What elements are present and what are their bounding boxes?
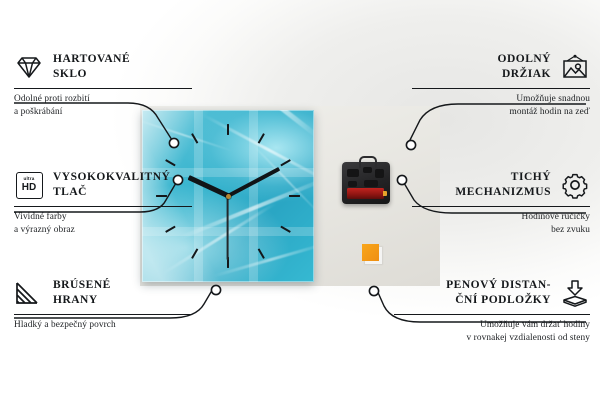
feature-rule <box>394 314 590 315</box>
feature-description: Umožňuje vám držať hodiny v rovnakej vzd… <box>394 319 590 345</box>
connector-dot-left-3 <box>211 285 220 294</box>
feature-description: Umožňuje snadnou montáž hodin na zeď <box>412 93 590 119</box>
feature-foam-spacers: PENOVÝ DISTAN- ČNÍ PODLOŽKY Umožňuje vám… <box>394 276 590 345</box>
foam-spacer-icon <box>560 278 590 308</box>
feature-header: PENOVÝ DISTAN- ČNÍ PODLOŽKY <box>394 276 590 310</box>
feature-rule <box>14 206 192 207</box>
hd-label: HD <box>22 183 36 193</box>
ultra-hd-icon: ultra HD <box>14 170 44 200</box>
feature-rule <box>412 206 590 207</box>
clock-second-hand <box>227 196 229 260</box>
picture-hanger-icon <box>560 52 590 82</box>
diamond-icon <box>14 52 44 82</box>
feature-beveled-edges: BRÚSENÉ HRANY Hladký a bezpečný povrch <box>14 276 192 332</box>
connector-dot-right-3 <box>369 286 378 295</box>
feature-rule <box>14 88 192 89</box>
feature-high-quality-print: ultra HD VYSOKOKVALITNÝ TLAČ Vividné far… <box>14 168 192 237</box>
feature-title: PENOVÝ DISTAN- ČNÍ PODLOŽKY <box>446 278 551 309</box>
feature-silent-mechanism: TICHÝ MECHANIZMUS Hodinové ručičky bez z… <box>412 168 590 237</box>
feature-description: Vividné farby a výrazný obraz <box>14 211 192 237</box>
feature-description: Odolné proti rozbití a poškrábání <box>14 93 192 119</box>
feature-title: VYSOKOKVALITNÝ TLAČ <box>53 170 170 201</box>
feature-title: BRÚSENÉ HRANY <box>53 278 111 309</box>
feature-tempered-glass: HARTOVANÉ SKLO Odolné proti rozbití a po… <box>14 50 192 119</box>
battery <box>347 188 384 199</box>
gear-icon <box>560 170 590 200</box>
feature-header: HARTOVANÉ SKLO <box>14 50 192 84</box>
feature-title: TICHÝ MECHANIZMUS <box>455 170 551 201</box>
feature-description: Hladký a bezpečný povrch <box>14 319 192 332</box>
feature-header: ODOLNÝ DRŽIAK <box>412 50 590 84</box>
infographic-canvas: HARTOVANÉ SKLO Odolné proti rozbití a po… <box>0 0 600 400</box>
feature-durable-hanger: ODOLNÝ DRŽIAK Umožňuje snadnou montáž ho… <box>412 50 590 119</box>
clock-movement <box>342 162 390 204</box>
foam-spacer-pad <box>362 244 379 261</box>
feature-title: ODOLNÝ DRŽIAK <box>498 52 551 83</box>
feature-header: ultra HD VYSOKOKVALITNÝ TLAČ <box>14 168 192 202</box>
feature-rule <box>14 314 192 315</box>
feature-description: Hodinové ručičky bez zvuku <box>412 211 590 237</box>
feature-header: TICHÝ MECHANIZMUS <box>412 168 590 202</box>
feature-title: HARTOVANÉ SKLO <box>53 52 130 83</box>
feature-header: BRÚSENÉ HRANY <box>14 276 192 310</box>
beveled-edge-icon <box>14 278 44 308</box>
feature-rule <box>412 88 590 89</box>
clock-center-pin <box>226 194 231 199</box>
